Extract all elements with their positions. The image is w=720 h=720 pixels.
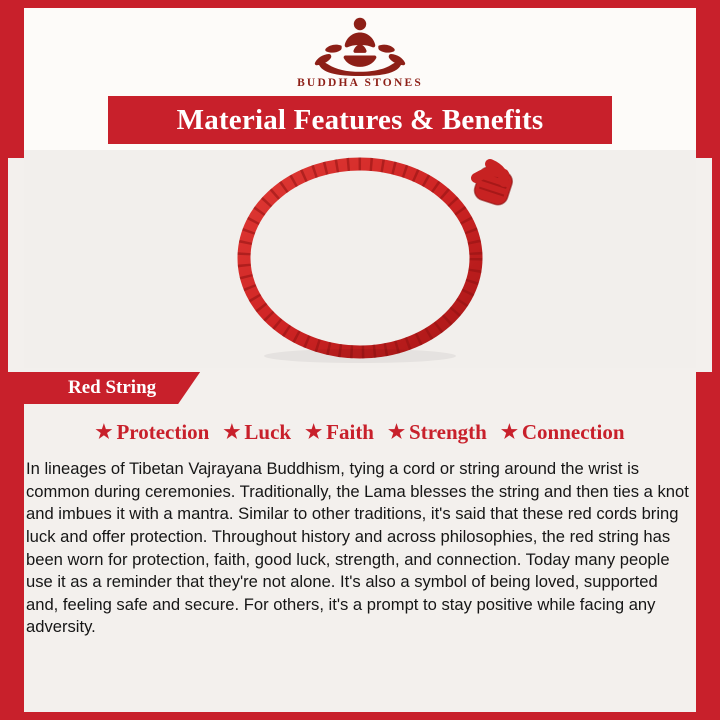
benefit-keyword-list: ★ Protection ★ Luck ★ Faith ★ Strength ★… (24, 420, 696, 445)
star-icon: ★ (501, 423, 518, 442)
benefit-keyword-faith: ★ Faith (305, 420, 374, 445)
benefit-keyword-label: Luck (244, 420, 291, 445)
benefit-keyword-label: Connection (522, 420, 625, 445)
page-title: Material Features & Benefits (177, 104, 544, 137)
benefit-keyword-label: Faith (326, 420, 374, 445)
frame-accent-bottom-right (696, 372, 712, 712)
star-icon: ★ (223, 423, 240, 442)
benefit-keyword-protection: ★ Protection (95, 420, 209, 445)
product-info-card: BUDDHA STONES Material Features & Benefi… (0, 0, 720, 720)
frame-bar-right (712, 0, 720, 720)
benefit-keyword-label: Protection (116, 420, 209, 445)
frame-accent-bottom-left (8, 372, 24, 712)
frame-bar-left (0, 0, 8, 720)
benefit-keyword-connection: ★ Connection (501, 420, 625, 445)
frame-bar-top (0, 0, 720, 8)
star-icon: ★ (388, 423, 405, 442)
product-name: Red String (68, 377, 156, 399)
page-title-banner: Material Features & Benefits (108, 96, 612, 144)
brand-name: BUDDHA STONES (0, 77, 720, 89)
product-image (24, 150, 696, 368)
red-string-bracelet-illustration (24, 150, 696, 368)
product-name-tab: Red String (24, 372, 200, 404)
star-icon: ★ (95, 423, 112, 442)
product-description: In lineages of Tibetan Vajrayana Buddhis… (24, 458, 696, 639)
benefit-keyword-label: Strength (409, 420, 487, 445)
star-icon: ★ (305, 423, 322, 442)
benefit-keyword-strength: ★ Strength (388, 420, 487, 445)
frame-bar-bottom (0, 712, 720, 720)
benefit-keyword-luck: ★ Luck (223, 420, 291, 445)
brand-logo: BUDDHA STONES (0, 14, 720, 89)
lotus-meditation-icon (301, 14, 419, 76)
